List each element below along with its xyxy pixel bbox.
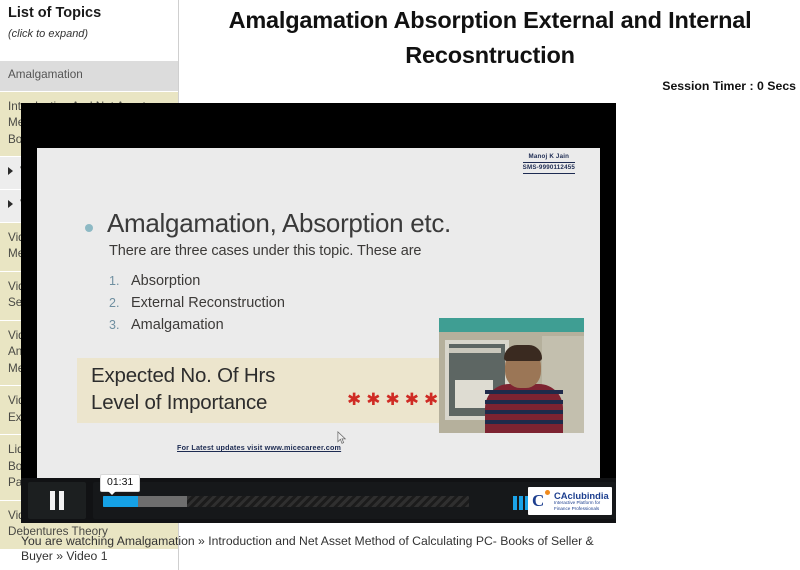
list-number: 1.	[109, 270, 131, 292]
list-text: Amalgamation	[131, 317, 224, 333]
slide-heading: Amalgamation, Absorption etc.	[107, 208, 451, 238]
video-lecture-page: List of Topics (click to expand) Amalgam…	[0, 0, 800, 570]
pause-icon-bar-left	[50, 491, 55, 510]
pause-icon-bar-right	[59, 491, 64, 510]
time-tooltip: 01:31	[100, 474, 140, 492]
brand-dot-icon	[545, 490, 550, 495]
highlight-box: Expected No. Of Hrs Level of Importance …	[77, 358, 457, 423]
expected-hours-label: Expected No. Of Hrs	[91, 364, 275, 388]
webcam-presenter-hair	[504, 345, 542, 361]
progress-played	[103, 496, 138, 507]
session-timer: Session Timer : 0 Secs	[180, 79, 800, 93]
list-number: 2.	[109, 292, 131, 314]
video-stage[interactable]: Manoj K Jain SMS-9990112455 Amalgamation…	[21, 103, 616, 523]
webcam-window-sill	[449, 348, 501, 353]
mouse-cursor-icon	[337, 431, 347, 445]
importance-label: Level of Importance	[91, 391, 267, 415]
slide-credit: Manoj K Jain SMS-9990112455	[523, 153, 575, 174]
list-item: 2.External Reconstruction	[109, 292, 285, 314]
lecture-slide: Manoj K Jain SMS-9990112455 Amalgamation…	[37, 148, 600, 478]
webcam-presenter-body	[485, 384, 563, 433]
video-player[interactable]: Manoj K Jain SMS-9990112455 Amalgamation…	[21, 103, 616, 523]
sidebar-title: List of Topics	[8, 4, 170, 22]
chevron-right-icon	[8, 200, 13, 208]
presenter-phone: SMS-9990112455	[523, 164, 575, 174]
progress-bar[interactable]	[103, 496, 469, 507]
slide-list: 1.Absorption 2.External Reconstruction 3…	[109, 270, 285, 336]
slide-subheading: There are three cases under this topic. …	[109, 243, 421, 259]
sidebar-subtitle: (click to expand)	[8, 28, 170, 41]
caclubindia-logo[interactable]: C CAclubindia Interactive Platform for F…	[528, 487, 612, 515]
player-controls: 01:31 C CAclubindia	[21, 478, 616, 523]
sidebar-header: List of Topics (click to expand)	[0, 0, 178, 41]
sidebar-item-label: Amalgamation	[8, 68, 83, 81]
brand-tagline: Interactive Platform for Finance Profess…	[554, 500, 610, 512]
list-item: 3.Amalgamation	[109, 314, 285, 336]
now-playing-status: You are watching Amalgamation » Introduc…	[21, 534, 611, 564]
sidebar-group-amalgamation[interactable]: Amalgamation	[0, 61, 179, 92]
presenter-webcam	[439, 318, 584, 433]
list-number: 3.	[109, 314, 131, 336]
presenter-name: Manoj K Jain	[523, 153, 575, 163]
list-text: External Reconstruction	[131, 295, 285, 311]
pause-button[interactable]	[28, 482, 86, 519]
progress-area: 01:31 C CAclubindia	[93, 482, 616, 519]
bullet-icon	[85, 224, 93, 232]
page-title: Amalgamation Absorption External and Int…	[184, 0, 796, 73]
chevron-right-icon	[8, 167, 13, 175]
list-text: Absorption	[131, 273, 200, 289]
slide-footer-link: For Latest updates visit www.micecareer.…	[177, 443, 341, 452]
importance-stars: ✱✱✱✱✱	[347, 390, 443, 410]
list-item: 1.Absorption	[109, 270, 285, 292]
